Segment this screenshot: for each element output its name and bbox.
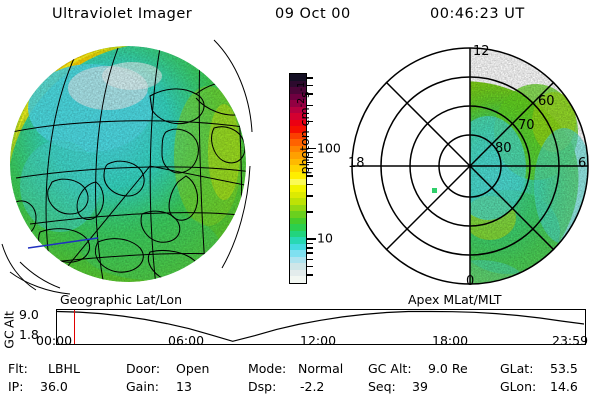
auroral-oval-data (352, 48, 594, 298)
mlat-label-80: 80 (495, 141, 512, 156)
mlt-label-6: 6 (578, 156, 586, 171)
globe-disk (10, 46, 246, 282)
polar-caption: Apex MLat/MLT (408, 292, 502, 307)
status-bar: Flt:LBHLDoor:OpenMode:NormalGC Alt:9.0 R… (0, 360, 600, 400)
polar-svg (340, 36, 600, 298)
status-label-dsp: Dsp: (248, 379, 276, 394)
orbit-xtick-1800: 18:00 (432, 333, 468, 348)
orbit-y-axis-label: Alt GC (1, 310, 17, 350)
status-label-mode: Mode: (248, 361, 286, 376)
current-time-marker (74, 310, 76, 344)
status-value-door: Open (176, 361, 209, 376)
header-bar: Ultraviolet Imager 09 Oct 00 00:46:23 UT (0, 4, 600, 28)
status-value-mode: Normal (298, 361, 343, 376)
mlt-label-12: 12 (473, 44, 490, 59)
colorbar-minor-tick (307, 259, 313, 260)
globe-caption: Geographic Lat/Lon (60, 292, 182, 307)
status-label-gcalt: GC Alt: (368, 361, 412, 376)
status-label-gain: Gain: (126, 379, 159, 394)
colorbar-minor-tick (307, 243, 313, 244)
globe-svg (0, 36, 268, 298)
status-value-gcalt: 9.0 Re (428, 361, 468, 376)
status-label-glat: GLat: (500, 361, 533, 376)
colorbar-minor-tick (307, 266, 313, 267)
status-value-ip: 36.0 (40, 379, 68, 394)
observation-time: 00:46:23 UT (430, 6, 525, 22)
polar-grid (352, 48, 588, 284)
status-value-glon: 14.6 (550, 379, 578, 394)
mlat-label-70: 70 (518, 118, 535, 133)
colorbar-band (290, 276, 306, 283)
status-value-glat: 53.5 (550, 361, 578, 376)
status-label-flt: Flt: (8, 361, 28, 376)
colorbar-tick-label: 100 (317, 140, 341, 155)
geographic-globe-view[interactable] (0, 36, 268, 298)
status-label-ip: IP: (8, 379, 23, 394)
colorbar-major-tick (307, 238, 316, 240)
mlat-label-60: 60 (538, 94, 555, 109)
colorbar-minor-tick (307, 211, 313, 212)
colorbar-minor-tick (307, 247, 313, 248)
status-value-dsp: -2.2 (300, 379, 324, 394)
observation-date: 09 Oct 00 (275, 6, 351, 22)
orbit-xtick-1200: 12:00 (300, 333, 336, 348)
colorbar-tick-label: 10 (317, 231, 333, 246)
instrument-title: Ultraviolet Imager (52, 6, 192, 22)
colorbar-minor-tick (307, 252, 313, 253)
mlt-label-0: 0 (466, 274, 474, 289)
mlt-label-18: 18 (348, 156, 365, 171)
orbit-altitude-plot[interactable]: Alt GC 9.0 1.8 00:0006:0012:0018:0023:59 (0, 306, 600, 352)
orbit-xtick-0000: 00:00 (36, 333, 72, 348)
status-label-glon: GLon: (500, 379, 536, 394)
orbit-xtick-2359: 23:59 (552, 333, 588, 348)
status-label-door: Door: (126, 361, 160, 376)
status-value-flt: LBHL (48, 361, 80, 376)
colorbar-minor-tick (307, 274, 313, 275)
status-value-seq: 39 (412, 379, 428, 394)
colorbar-axis-title: photon cm-2s-1 (296, 48, 312, 208)
status-value-gain: 13 (176, 379, 192, 394)
status-label-seq: Seq: (368, 379, 396, 394)
orbit-y-label-gc: GC (2, 322, 17, 358)
orbit-ytick-max: 9.0 (19, 307, 39, 322)
orbit-xtick-0600: 06:00 (168, 333, 204, 348)
apex-polar-view[interactable]: 121860607080 (340, 36, 600, 298)
